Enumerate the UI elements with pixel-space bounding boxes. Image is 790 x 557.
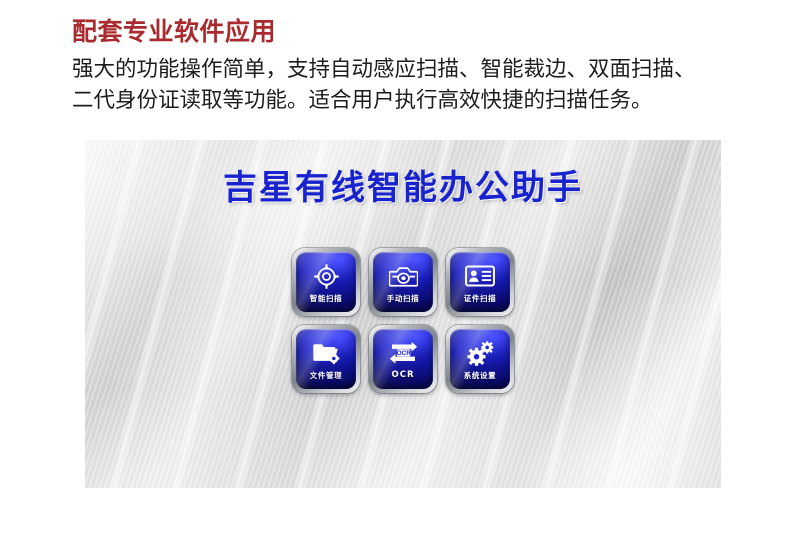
tile-face: OCR OCR (373, 329, 433, 389)
tile-label: 证件扫描 (450, 294, 510, 303)
id-card-icon (450, 261, 510, 291)
tile-face: 智能扫描 (296, 252, 356, 312)
tile-smart-scan[interactable]: 智能扫描 (292, 248, 360, 316)
tile-file-management[interactable]: 文件管理 (292, 325, 360, 393)
tile-label: 手动扫描 (373, 294, 433, 303)
camera-icon (373, 261, 433, 291)
software-screen-panel: 吉星有线智能办公助手 (85, 140, 721, 488)
description-paragraph: 强大的功能操作简单，支持自动感应扫描、智能裁边、双面扫描、 二代身份证读取等功能… (72, 54, 732, 116)
tile-label: OCR (373, 371, 433, 380)
tile-face: 手动扫描 (373, 252, 433, 312)
tile-manual-scan[interactable]: 手动扫描 (369, 248, 437, 316)
tile-label: 文件管理 (296, 371, 356, 380)
page-title: 配套专业软件应用 (72, 16, 732, 48)
tile-id-card-scan[interactable]: 证件扫描 (446, 248, 514, 316)
svg-text:OCR: OCR (396, 350, 410, 357)
tile-label: 系统设置 (450, 371, 510, 380)
function-tile-grid: 智能扫描 (292, 248, 514, 393)
folder-gear-icon (296, 338, 356, 368)
screen-content: 吉星有线智能办公助手 (85, 140, 721, 488)
tile-label: 智能扫描 (296, 294, 356, 303)
application-title: 吉星有线智能办公助手 (85, 167, 721, 209)
target-scan-icon (296, 261, 356, 291)
gears-icon (450, 338, 510, 368)
description-line-1: 强大的功能操作简单，支持自动感应扫描、智能裁边、双面扫描、 (72, 54, 732, 85)
description-line-2: 二代身份证读取等功能。适合用户执行高效快捷的扫描任务。 (72, 85, 732, 116)
tile-face: 文件管理 (296, 329, 356, 389)
ocr-arrows-icon: OCR (373, 338, 433, 368)
product-feature-slide: 配套专业软件应用 强大的功能操作简单，支持自动感应扫描、智能裁边、双面扫描、 二… (0, 0, 790, 557)
copy-block: 配套专业软件应用 强大的功能操作简单，支持自动感应扫描、智能裁边、双面扫描、 二… (72, 16, 732, 116)
tile-system-settings[interactable]: 系统设置 (446, 325, 514, 393)
tile-ocr[interactable]: OCR OCR (369, 325, 437, 393)
tile-face: 证件扫描 (450, 252, 510, 312)
tile-face: 系统设置 (450, 329, 510, 389)
